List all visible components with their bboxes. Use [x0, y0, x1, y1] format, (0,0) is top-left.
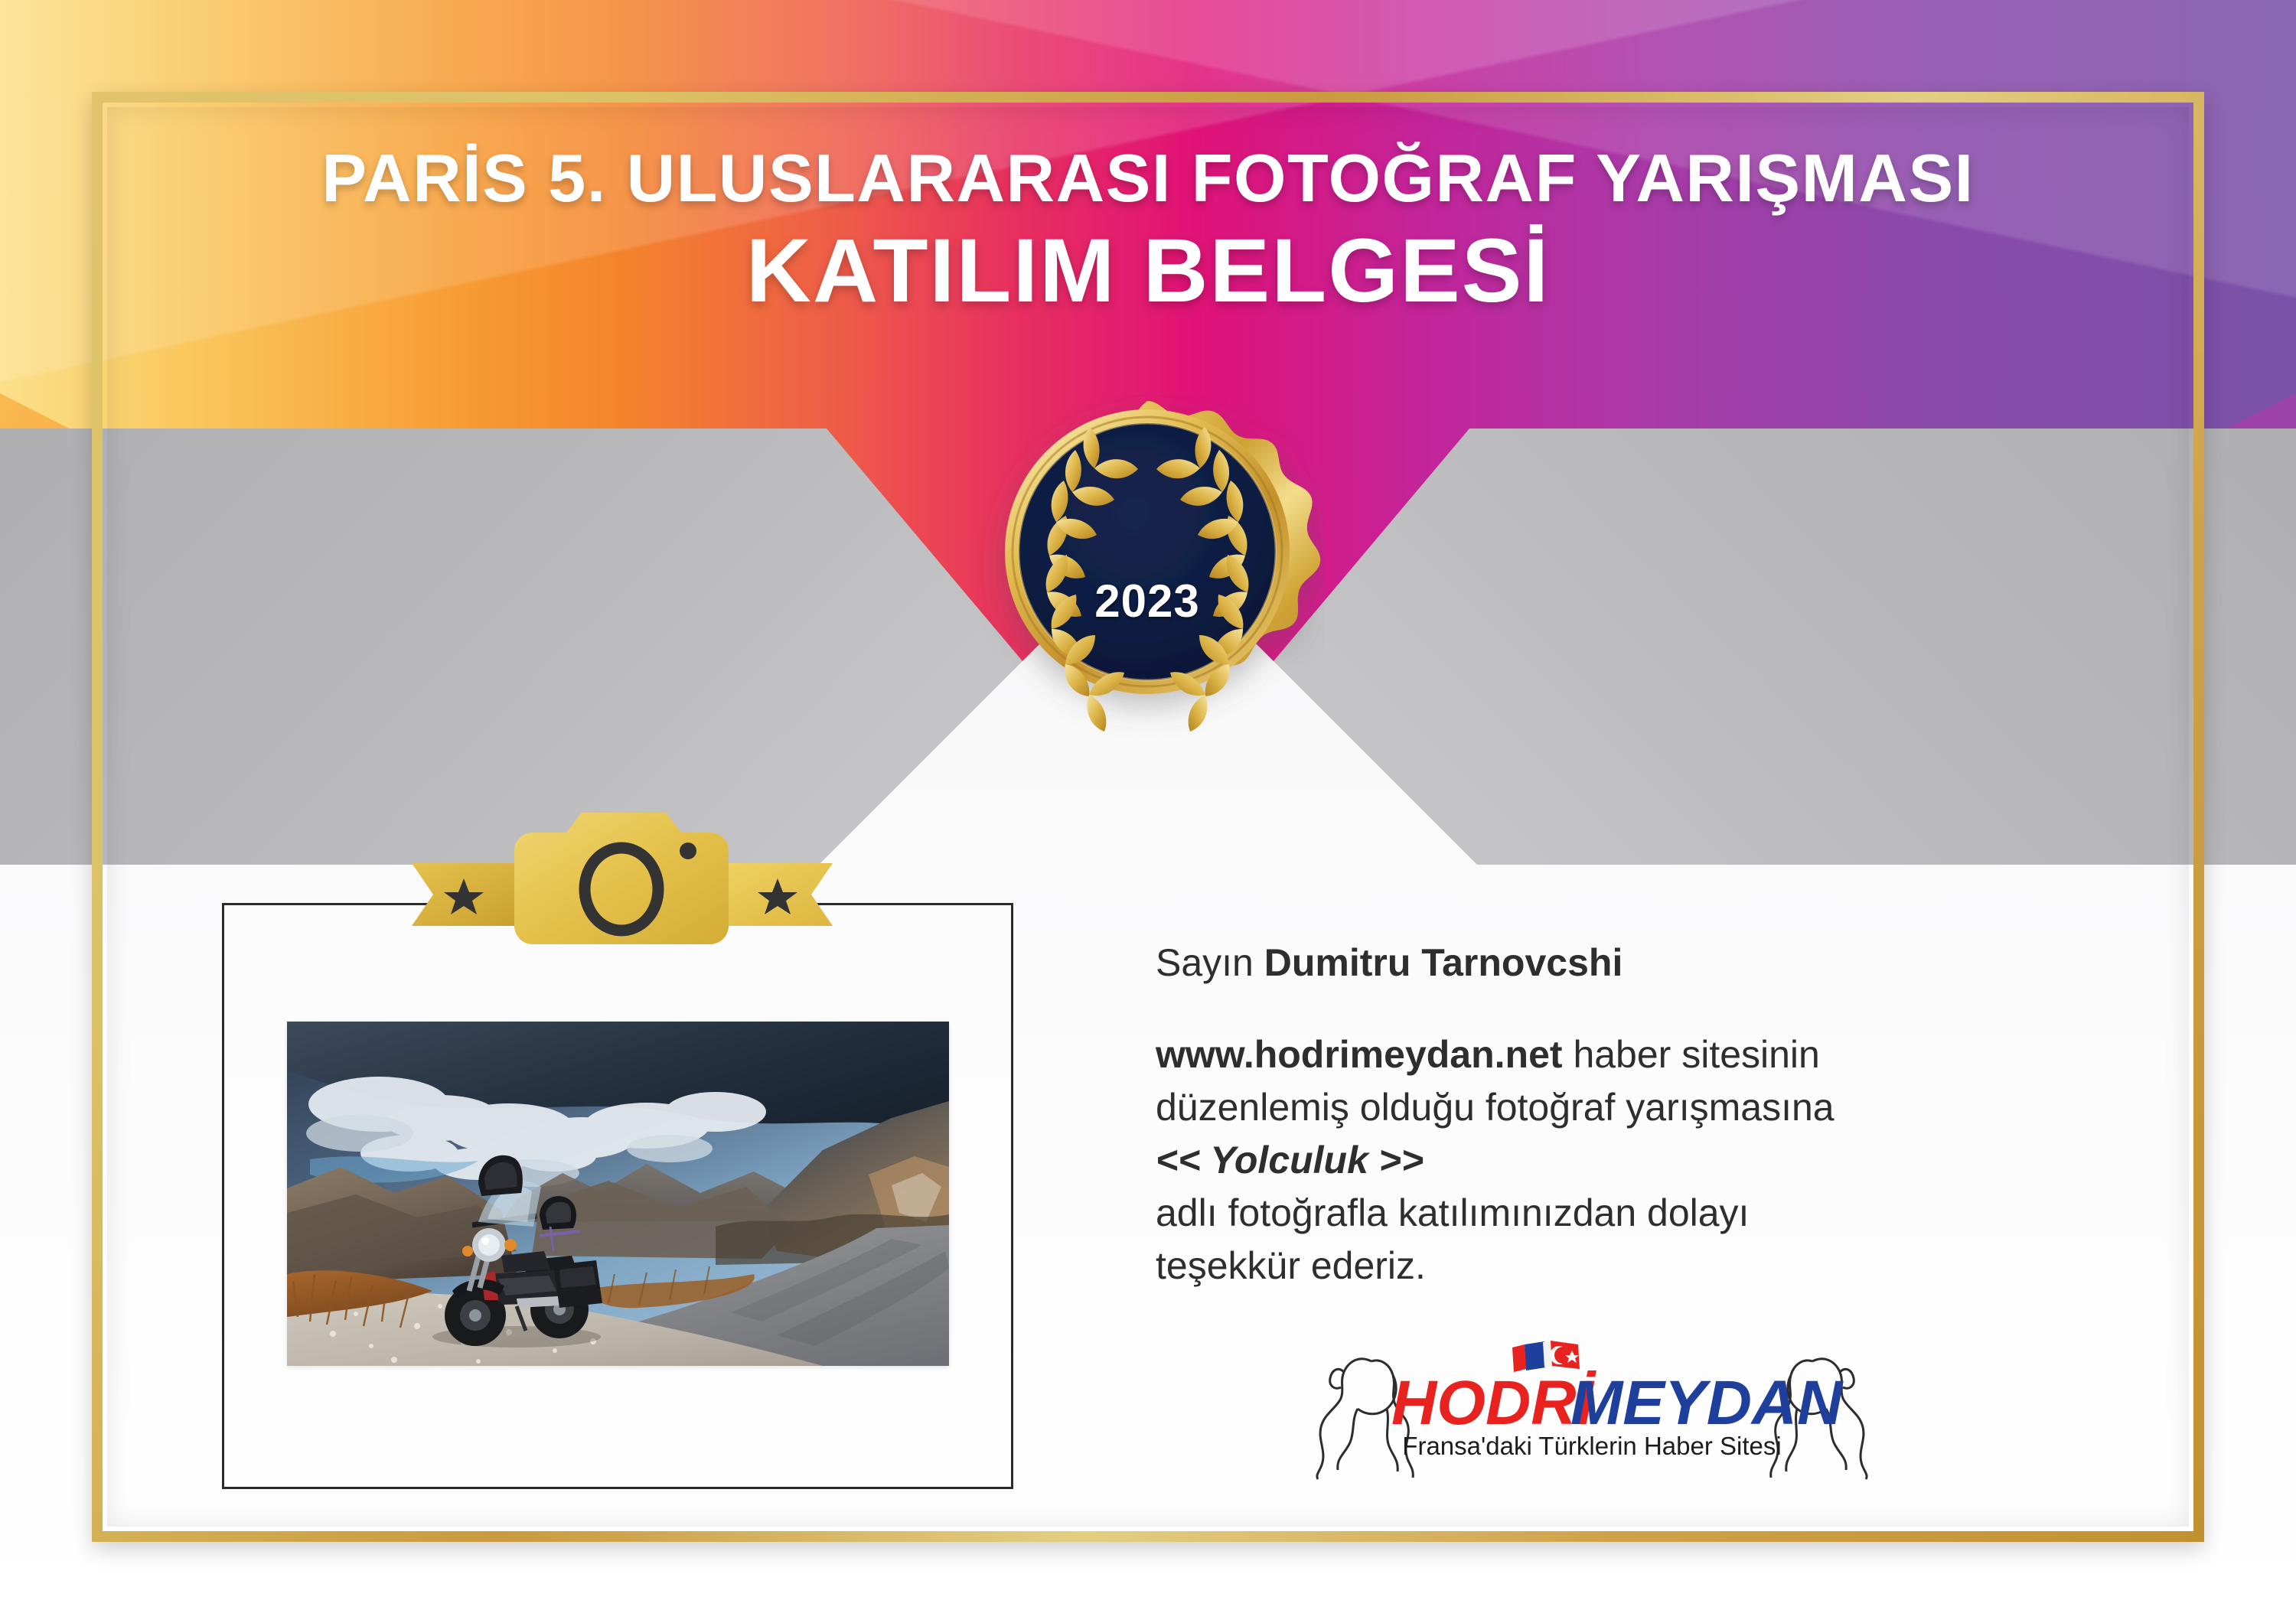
- camera-ribbon-icon: [396, 796, 848, 949]
- salutation-prefix: Sayın: [1156, 941, 1264, 984]
- logo-word-meydan: MEYDAN: [1570, 1368, 1844, 1438]
- camera-ribbon-badge: [396, 796, 848, 949]
- logo-word-hodri: HODRİ: [1391, 1368, 1596, 1438]
- site-name: www.hodrimeydan.net: [1156, 1033, 1563, 1076]
- submitted-photograph: [287, 1022, 949, 1366]
- award-seal-laurel-icon: [970, 395, 1324, 777]
- entry-title: << Yolculuk >>: [1156, 1134, 2112, 1187]
- certificate-type-title: KATILIM BELGESİ: [0, 220, 2296, 321]
- body-line-5: teşekkür ederiz.: [1156, 1240, 2112, 1292]
- award-seal: 2023: [970, 395, 1324, 777]
- certificate-title-block: PARİS 5. ULUSLARARASI FOTOĞRAF YARIŞMASI…: [0, 142, 2296, 321]
- salutation-line: Sayın Dumitru Tarnovcshi: [1156, 940, 2112, 986]
- hodri-meydan-logo: HODRİ MEYDAN Fransa'daki Türklerin Haber…: [1301, 1328, 1883, 1481]
- body-line-1: www.hodrimeydan.net haber sitesinin: [1156, 1028, 2112, 1081]
- certificate-page: PARİS 5. ULUSLARARASI FOTOĞRAF YARIŞMASI…: [0, 0, 2296, 1623]
- competition-title: PARİS 5. ULUSLARARASI FOTOĞRAF YARIŞMASI: [0, 142, 2296, 214]
- body-line-2: düzenlemiş olduğu fotoğraf yarışmasına: [1156, 1081, 2112, 1134]
- certificate-body-text: Sayın Dumitru Tarnovcshi www.hodrimeydan…: [1156, 940, 2112, 1292]
- photograph-image: [287, 1022, 949, 1366]
- body-line-1-rest: haber sitesinin: [1563, 1033, 1820, 1076]
- france-turkey-flag-icon: [1512, 1341, 1580, 1372]
- body-line-4: adlı fotoğrafla katılımınızdan dolayı: [1156, 1187, 2112, 1240]
- body-paragraph: www.hodrimeydan.net haber sitesinin düze…: [1156, 1028, 2112, 1292]
- logo-tagline: Fransa'daki Türklerin Haber Sitesi: [1402, 1432, 1781, 1460]
- recipient-name: Dumitru Tarnovcshi: [1264, 941, 1623, 984]
